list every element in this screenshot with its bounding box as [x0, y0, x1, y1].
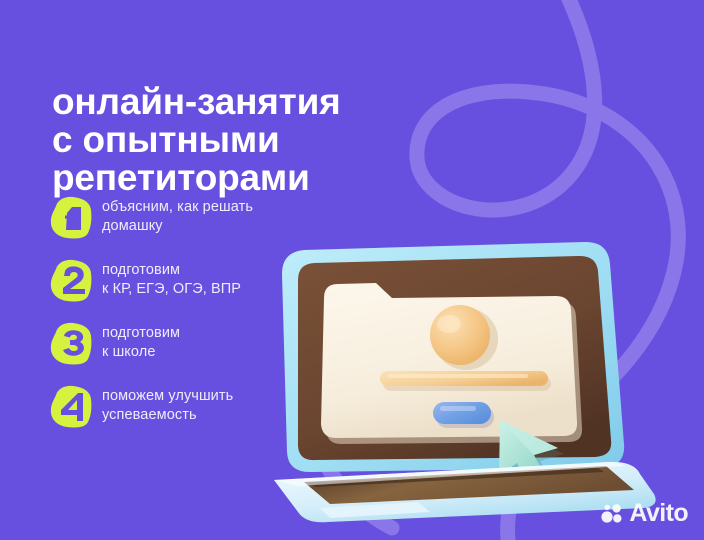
list-item: поможем улучшить успеваемость [48, 383, 348, 431]
list-item-line-2: к КР, ЕГЭ, ОГЭ, ВПР [102, 280, 241, 299]
avito-watermark: Avito [601, 501, 688, 526]
list-item-text: поможем улучшить успеваемость [102, 383, 233, 424]
list-item-text: объясним, как решать домашку [102, 194, 253, 235]
list-item-text: подготовим к КР, ЕГЭ, ОГЭ, ВПР [102, 257, 241, 298]
list-item-line-2: к школе [102, 343, 180, 362]
headline-line-2: с опытными [52, 121, 482, 159]
page-title: онлайн-занятия с опытными репетиторами [52, 83, 482, 197]
list-item-line-1: поможем улучшить [102, 387, 233, 406]
list-item-line-2: домашку [102, 217, 253, 236]
blue-pill [433, 402, 491, 424]
list-item-line-1: подготовим [102, 324, 180, 343]
list-item: объясним, как решать домашку [48, 194, 348, 242]
list-item-line-1: подготовим [102, 261, 241, 280]
list-item-text: подготовим к школе [102, 320, 180, 361]
headline-line-3: репетиторами [52, 159, 482, 197]
avito-dots-icon [601, 503, 623, 525]
number-badge-4-icon [48, 383, 94, 429]
avito-wordmark: Avito [629, 501, 688, 526]
list-item: подготовим к школе [48, 320, 348, 368]
poster-root: онлайн-занятия с опытными репетиторами о… [0, 0, 704, 540]
orange-bar [380, 371, 548, 386]
headline-line-1: онлайн-занятия [52, 83, 482, 121]
number-badge-3-icon [48, 320, 94, 366]
number-badge-1-icon [48, 194, 94, 240]
feature-list: объясним, как решать домашку подготовим … [48, 194, 348, 446]
orange-sphere [430, 305, 490, 365]
number-badge-2-icon [48, 257, 94, 303]
list-item-line-2: успеваемость [102, 406, 233, 425]
list-item: подготовим к КР, ЕГЭ, ОГЭ, ВПР [48, 257, 348, 305]
list-item-line-1: объясним, как решать [102, 198, 253, 217]
